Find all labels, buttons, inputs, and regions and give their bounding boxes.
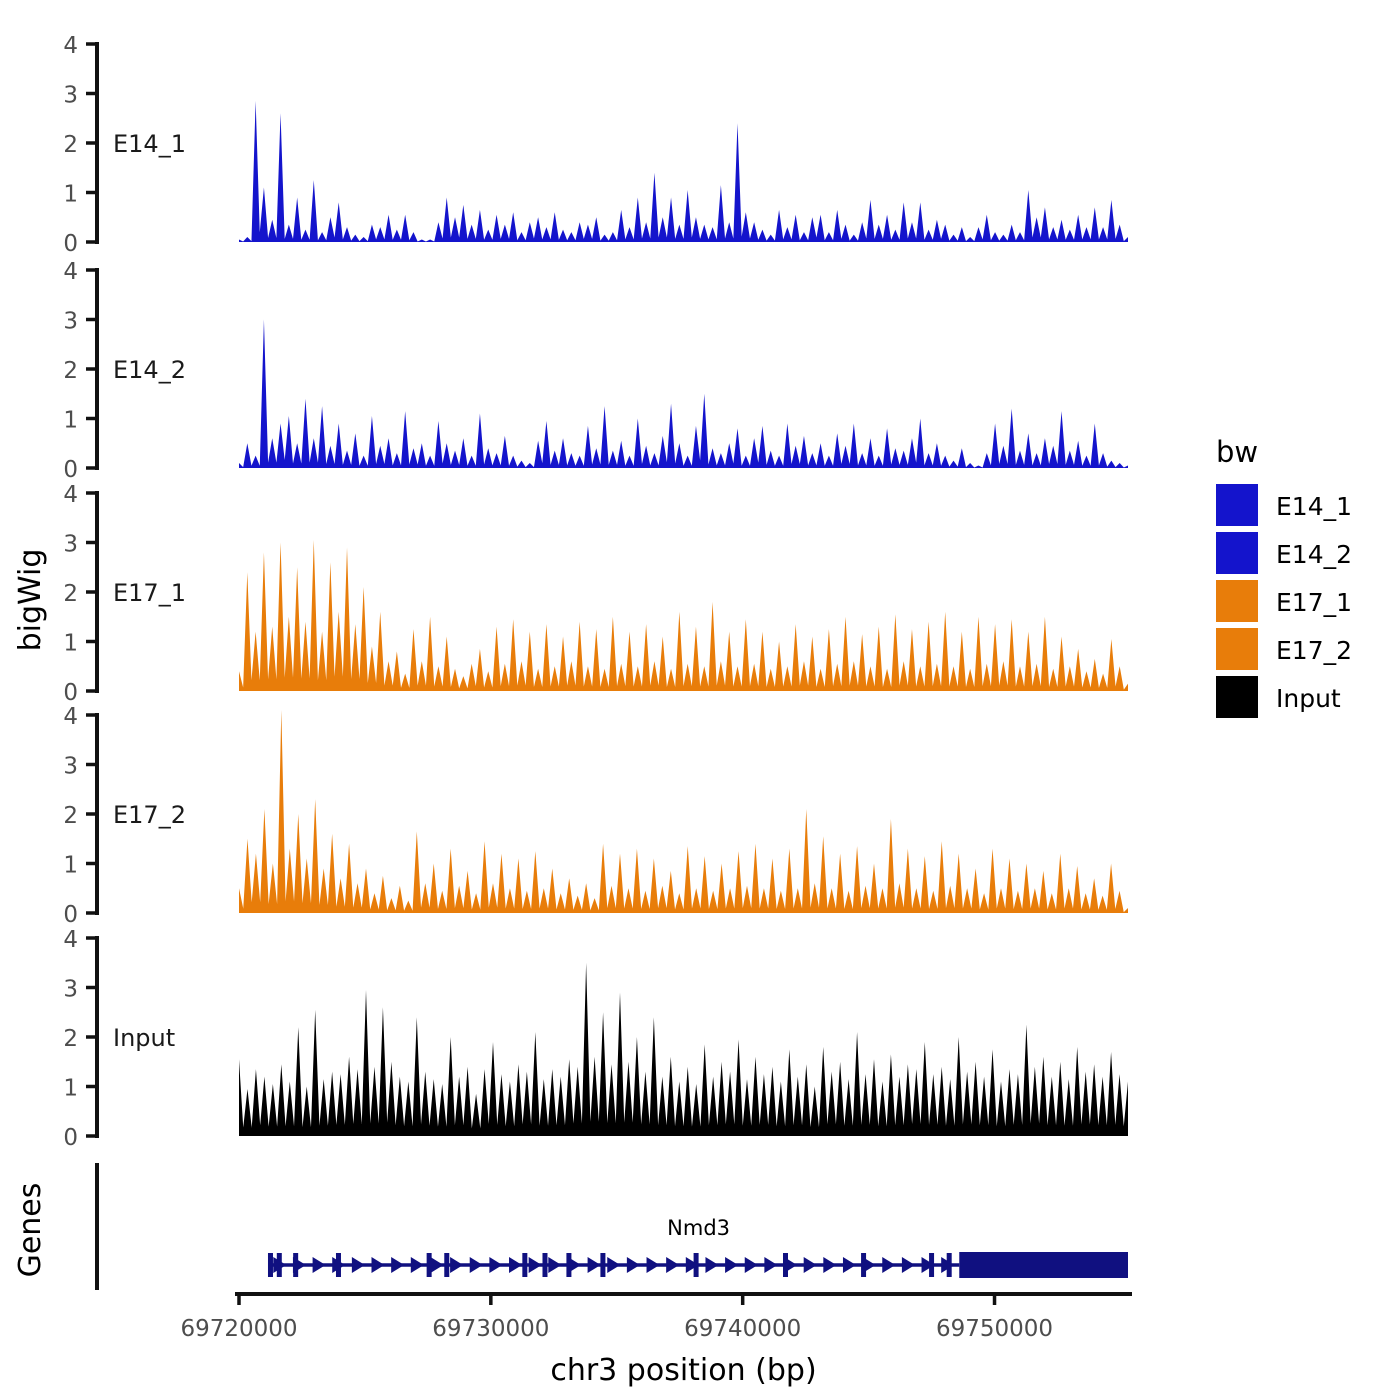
y-tick-label-e14_2-3: 3 [63, 309, 78, 335]
gene-strand-arrow [784, 1257, 797, 1273]
gene-exon-0 [268, 1253, 273, 1277]
track-panel-e14_2: 01234E14_2 [63, 259, 1128, 483]
y-tick-label-e14_2-1: 1 [63, 408, 78, 434]
track-label-input: Input [113, 1024, 175, 1052]
y-tick-label-e17_2-3: 3 [63, 754, 78, 780]
gene-name-label: Nmd3 [667, 1216, 730, 1240]
legend-swatch-e17_2[interactable] [1216, 628, 1258, 670]
y-tick-label-e14_1-2: 2 [63, 132, 78, 158]
y-tick-label-input-1: 1 [63, 1076, 78, 1102]
x-tick-label-69720000: 69720000 [180, 1316, 297, 1342]
y-tick-label-e17_2-2: 2 [63, 803, 78, 829]
gene-strand-arrow [647, 1257, 660, 1273]
figure-root: bigWigGenes01234E14_101234E14_201234E17_… [0, 0, 1400, 1400]
gene-exon-5 [444, 1253, 449, 1277]
bigwig-axis-title: bigWig [13, 549, 48, 652]
gene-strand-arrow [725, 1257, 738, 1273]
gene-strand-arrow [293, 1257, 306, 1273]
y-tick-label-e14_1-3: 3 [63, 83, 78, 109]
legend-swatch-e14_1[interactable] [1216, 484, 1258, 526]
y-tick-label-e14_1-4: 4 [63, 33, 78, 59]
gene-strand-arrow [764, 1257, 777, 1273]
bigwig-axis-title-group: bigWig [13, 549, 48, 652]
legend-label-e14_2[interactable]: E14_2 [1276, 540, 1352, 569]
gene-exon-9 [600, 1253, 605, 1277]
legend-label-e17_2[interactable]: E17_2 [1276, 636, 1352, 665]
gene-strand-arrow [568, 1257, 581, 1273]
gene-strand-arrow [607, 1257, 620, 1273]
signal-area-e14_1 [239, 101, 1128, 242]
y-tick-label-e14_2-4: 4 [63, 259, 78, 285]
gene-strand-arrow [627, 1257, 640, 1273]
signal-area-e17_1 [239, 540, 1128, 691]
gene-strand-arrow [823, 1257, 836, 1273]
gene-strand-arrow [509, 1257, 522, 1273]
genes-axis-title: Genes [13, 1183, 48, 1278]
gene-strand-arrow [470, 1257, 483, 1273]
y-tick-label-e14_2-0: 0 [63, 457, 78, 483]
genes-axis-title-group: Genes [13, 1183, 48, 1278]
legend-swatch-e14_2[interactable] [1216, 532, 1258, 574]
gene-panel: Nmd3 [97, 1163, 1128, 1290]
gene-exon-6 [522, 1253, 527, 1277]
gene-strand-arrow [313, 1257, 326, 1273]
gene-strand-arrow [745, 1257, 758, 1273]
track-label-e17_2: E17_2 [113, 801, 186, 829]
x-axis: 69720000697300006974000069750000chr3 pos… [180, 1294, 1132, 1388]
gene-strand-arrow [843, 1257, 856, 1273]
track-label-e14_2: E14_2 [113, 356, 186, 384]
y-tick-label-e17_1-0: 0 [63, 680, 78, 706]
gene-strand-arrow [705, 1257, 718, 1273]
y-tick-label-e14_1-0: 0 [63, 231, 78, 257]
y-tick-label-input-3: 3 [63, 977, 78, 1003]
gene-strand-arrow [588, 1257, 601, 1273]
legend-label-input[interactable]: Input [1276, 684, 1341, 713]
gene-strand-arrow [548, 1257, 561, 1273]
y-tick-label-e14_1-1: 1 [63, 182, 78, 208]
legend-swatch-e17_1[interactable] [1216, 580, 1258, 622]
legend-label-e17_1[interactable]: E17_1 [1276, 588, 1352, 617]
gene-strand-arrow [804, 1257, 817, 1273]
track-panel-e17_1: 01234E17_1 [63, 482, 1128, 706]
signal-area-e17_2 [239, 710, 1128, 913]
gene-strand-arrow [411, 1257, 424, 1273]
y-tick-label-e14_2-2: 2 [63, 358, 78, 384]
legend: bwE14_1E14_2E17_1E17_2Input [1216, 435, 1352, 718]
legend-swatch-input[interactable] [1216, 676, 1258, 718]
gene-strand-arrow [391, 1257, 404, 1273]
gene-strand-arrow [489, 1257, 502, 1273]
gene-strand-arrow [902, 1257, 915, 1273]
signal-area-input [239, 963, 1128, 1136]
gene-strand-arrow [529, 1257, 542, 1273]
signal-area-e14_2 [239, 320, 1128, 469]
y-tick-label-e17_2-0: 0 [63, 902, 78, 928]
y-tick-label-input-4: 4 [63, 927, 78, 953]
gene-strand-arrow [352, 1257, 365, 1273]
track-label-e17_1: E17_1 [113, 579, 186, 607]
gene-exon-7 [542, 1253, 547, 1277]
y-tick-label-input-0: 0 [63, 1125, 78, 1151]
gene-strand-arrow [372, 1257, 385, 1273]
y-tick-label-input-2: 2 [63, 1026, 78, 1052]
x-axis-title: chr3 position (bp) [550, 1353, 816, 1388]
legend-title: bw [1216, 435, 1258, 469]
track-panel-e17_2: 01234E17_2 [63, 704, 1128, 928]
gene-strand-arrow [450, 1257, 463, 1273]
track-panel-e14_1: 01234E14_1 [63, 33, 1128, 257]
legend-label-e14_1[interactable]: E14_1 [1276, 492, 1352, 521]
gene-strand-arrow [430, 1257, 443, 1273]
y-tick-label-e17_1-4: 4 [63, 482, 78, 508]
y-tick-label-e17_2-1: 1 [63, 853, 78, 879]
gene-strand-arrow [666, 1257, 679, 1273]
y-tick-label-e17_1-1: 1 [63, 631, 78, 657]
gene-utr3-block [959, 1252, 1128, 1278]
genome-browser-figure: bigWigGenes01234E14_101234E14_201234E17_… [0, 0, 1400, 1400]
x-tick-label-69730000: 69730000 [432, 1316, 549, 1342]
y-tick-label-e17_1-3: 3 [63, 532, 78, 558]
gene-strand-arrow [882, 1257, 895, 1273]
track-label-e14_1: E14_1 [113, 130, 186, 158]
track-panel-input: 01234Input [63, 927, 1128, 1151]
gene-strand-arrow [863, 1257, 876, 1273]
y-tick-label-e17_2-4: 4 [63, 704, 78, 730]
x-tick-label-69750000: 69750000 [936, 1316, 1053, 1342]
x-tick-label-69740000: 69740000 [684, 1316, 801, 1342]
y-tick-label-e17_1-2: 2 [63, 581, 78, 607]
